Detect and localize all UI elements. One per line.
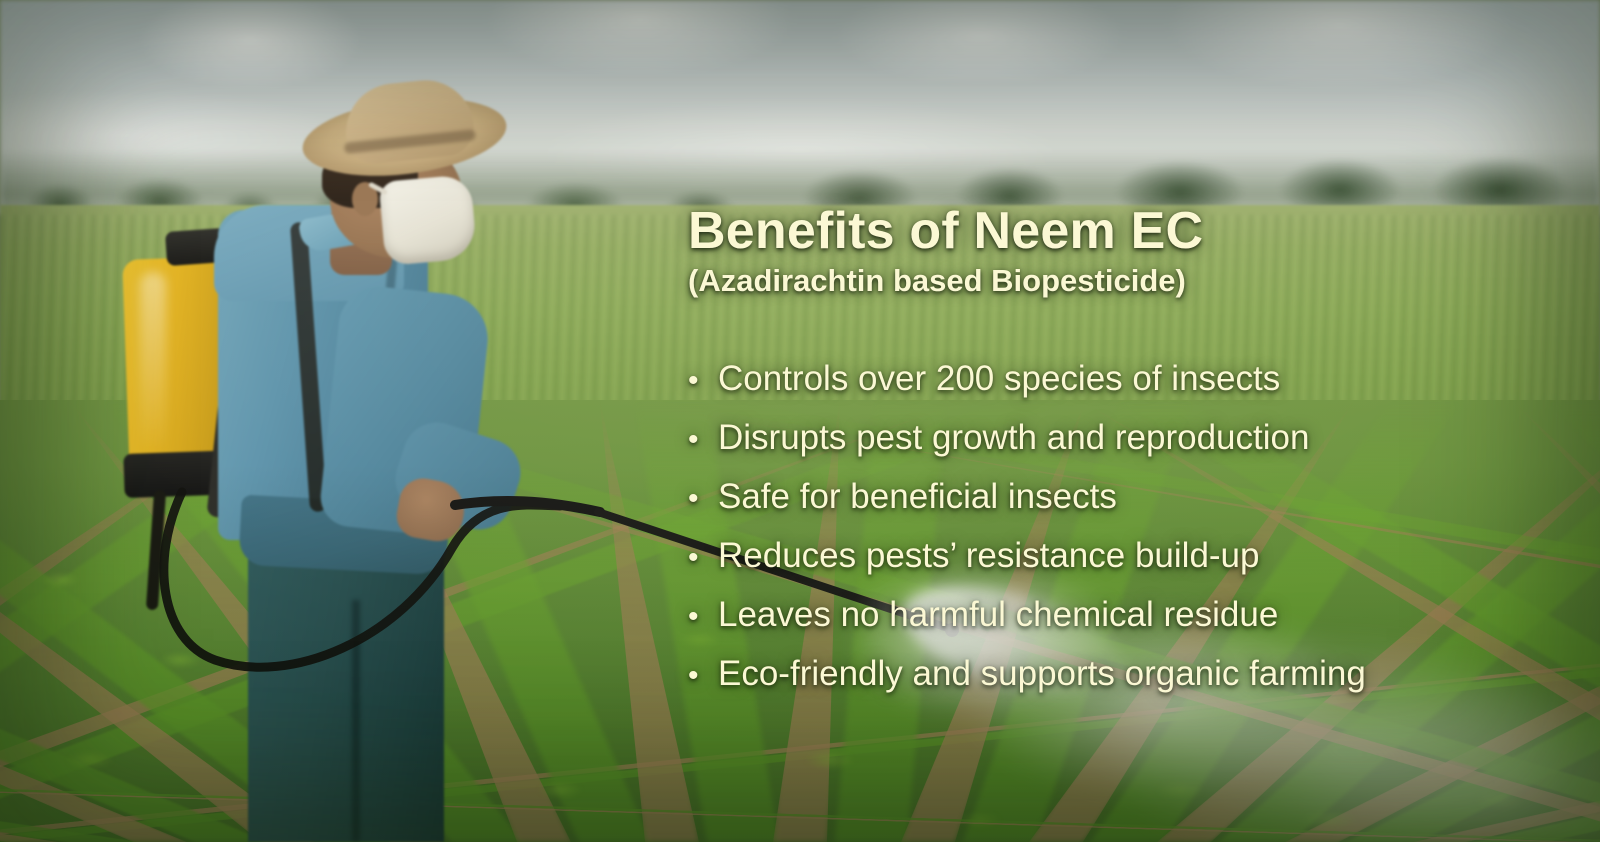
bullet-marker-icon: • [688,411,718,468]
benefit-text: Eco-friendly and supports organic farmin… [718,645,1366,702]
farmer-figure [0,0,700,842]
bullet-marker-icon: • [688,352,718,409]
benefit-item: •Reduces pests’ resistance build-up [688,527,1568,586]
poster-canvas: Benefits of Neem EC (Azadirachtin based … [0,0,1600,842]
poster-subtitle: (Azadirachtin based Biopesticide) [688,263,1568,299]
benefit-item: •Controls over 200 species of insects [688,350,1568,409]
benefit-text: Reduces pests’ resistance build-up [718,527,1260,584]
sprayer-frame [146,490,166,611]
bullet-marker-icon: • [688,588,718,645]
benefits-list: •Controls over 200 species of insects•Di… [688,350,1568,704]
bullet-marker-icon: • [688,647,718,704]
benefit-text: Safe for beneficial insects [718,468,1117,525]
benefit-text: Disrupts pest growth and reproduction [718,409,1309,466]
benefit-item: •Leaves no harmful chemical residue [688,586,1568,645]
benefits-copy-block: Benefits of Neem EC (Azadirachtin based … [688,204,1568,704]
bullet-marker-icon: • [688,470,718,527]
benefit-item: •Safe for beneficial insects [688,468,1568,527]
benefit-item: •Eco-friendly and supports organic farmi… [688,645,1568,704]
face-mask [379,174,478,266]
trouser-seam [352,600,360,842]
benefit-item: •Disrupts pest growth and reproduction [688,409,1568,468]
poster-title: Benefits of Neem EC [688,204,1568,259]
tank-highlight [140,272,166,452]
bullet-marker-icon: • [688,529,718,586]
benefit-text: Controls over 200 species of insects [718,350,1280,407]
benefit-text: Leaves no harmful chemical residue [718,586,1278,643]
straw-hat-crown [341,76,476,167]
